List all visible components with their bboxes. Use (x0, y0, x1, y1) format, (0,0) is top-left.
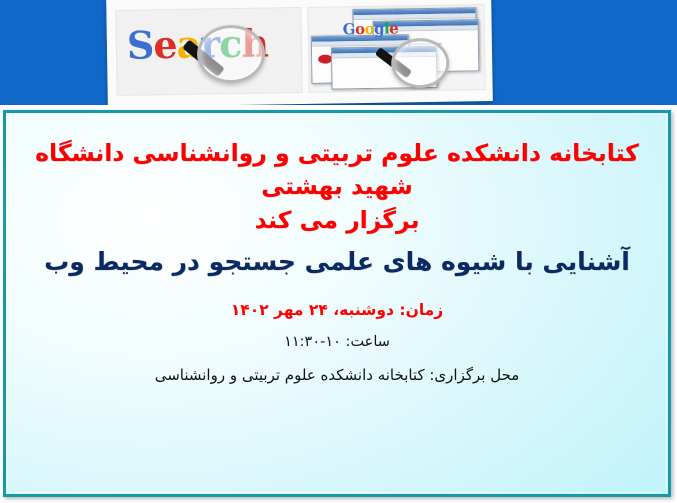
google-letter-g: G (343, 20, 356, 38)
content-logo (318, 54, 332, 63)
banner-search-illustration: Search (115, 7, 302, 96)
search-letter-s: S (127, 22, 154, 67)
event-title: آشنایی با شیوه های علمی جستجو در محیط وب (12, 246, 662, 279)
search-letter-a: a (176, 22, 200, 67)
banner-browsers-illustration: Google (307, 4, 485, 93)
organizer-headline: کتابخانه دانشکده علوم تربیتی و روانشناسی… (12, 137, 662, 237)
browser-window (331, 46, 438, 90)
event-location: محل برگزاری: کتابخانه دانشکده علوم تربیت… (12, 366, 662, 386)
event-date: زمان: دوشنبه، ۲۴ مهر ۱۴۰۲ (12, 300, 662, 320)
banner-image-card: Search (106, 0, 493, 105)
poster-content: کتابخانه دانشکده علوم تربیتی و روانشناسی… (6, 113, 668, 385)
google-wordmark: Google (343, 19, 399, 38)
google-letter-e: e (389, 19, 398, 37)
search-wordmark: Search (127, 24, 269, 64)
organizer-headline-line1: کتابخانه دانشکده علوم تربیتی و روانشناسی… (35, 139, 639, 200)
banner: Search (0, 0, 677, 105)
organizer-headline-line2: برگزار می کند (14, 204, 660, 237)
window-content (332, 57, 437, 90)
google-letter-o1: o (355, 20, 365, 38)
browser-window-stack (308, 5, 484, 92)
search-letter-c: c (219, 21, 242, 66)
search-letter-r: r (200, 21, 220, 66)
poster-frame: کتابخانه دانشکده علوم تربیتی و روانشناسی… (3, 110, 671, 497)
event-poster: Search (0, 0, 677, 503)
search-letter-e: e (153, 22, 177, 67)
event-time: ساعت: ۱۰-۱۱:۳۰ (12, 333, 662, 352)
search-letter-h: h (241, 20, 268, 65)
